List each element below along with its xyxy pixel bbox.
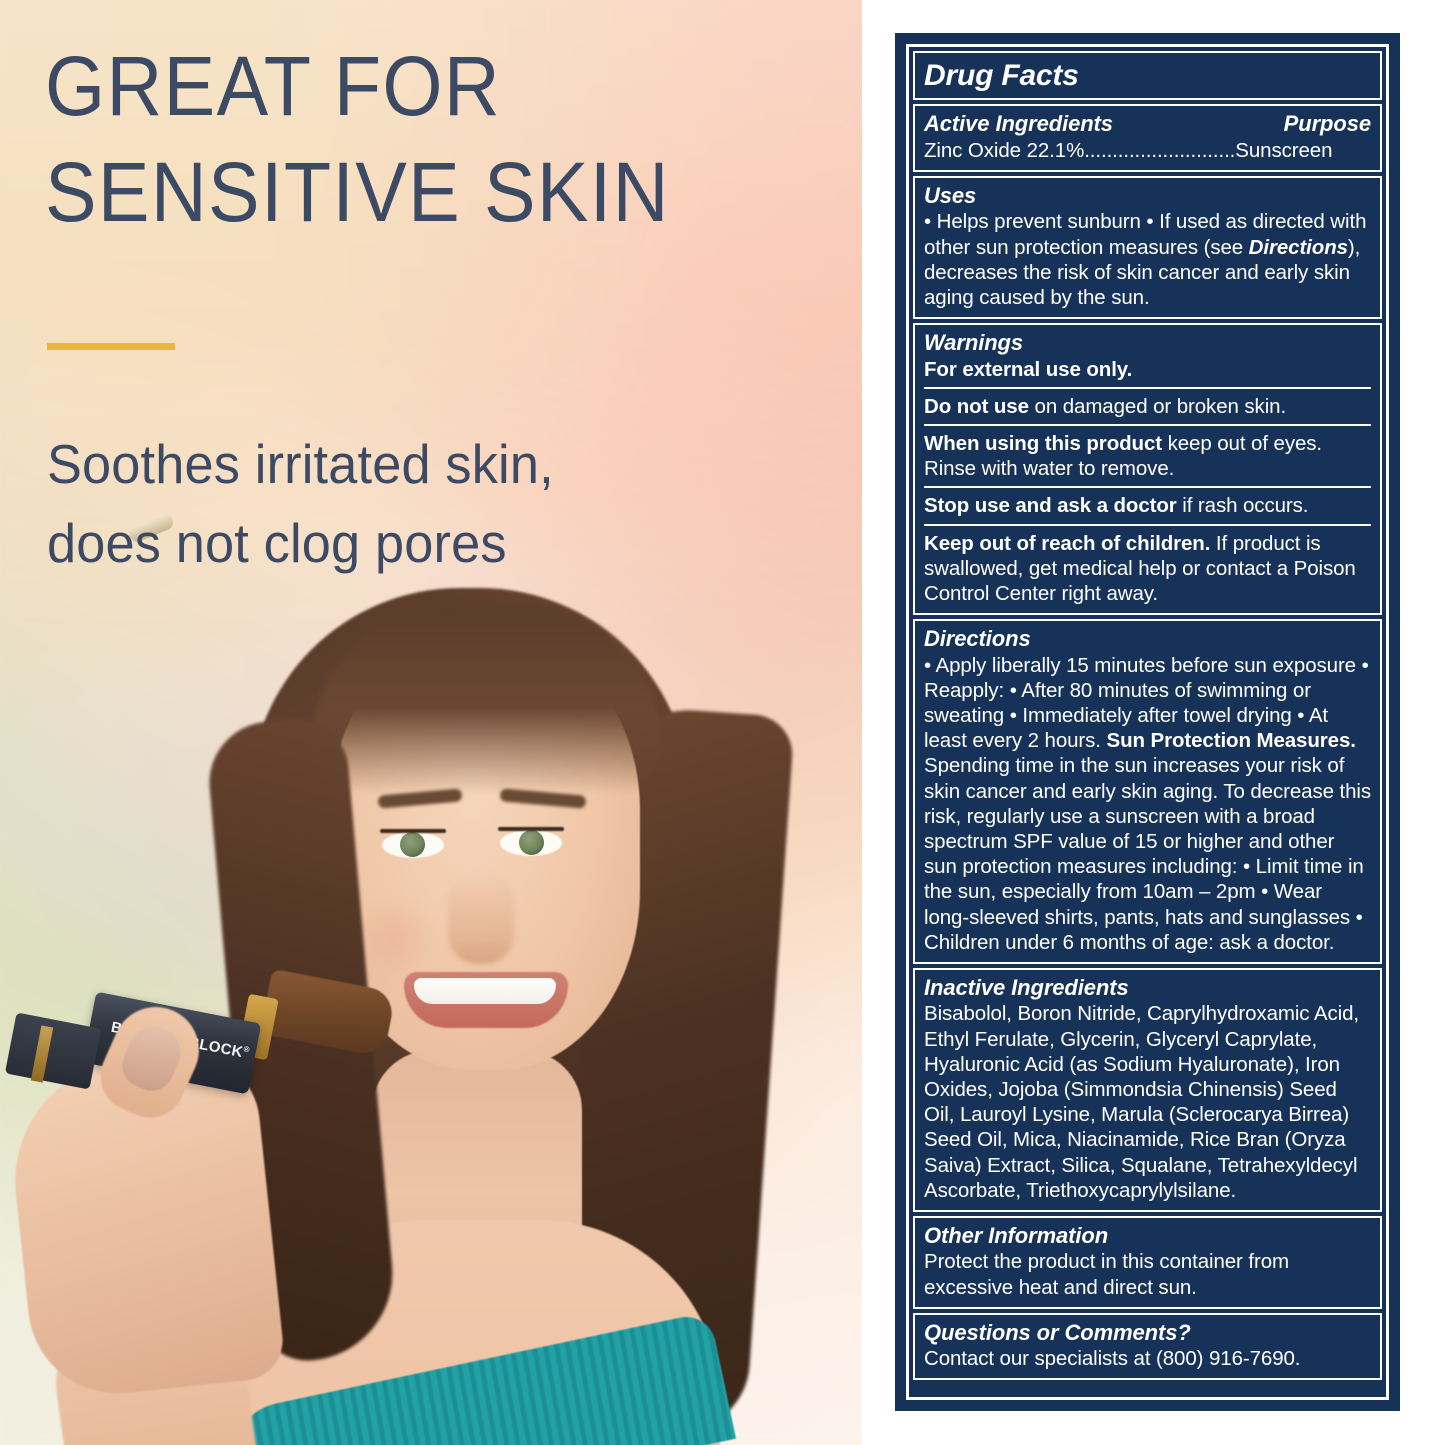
iris-left <box>400 832 425 857</box>
warning-item-3: When using this product keep out of eyes… <box>924 431 1371 481</box>
warning-divider-4 <box>924 524 1371 526</box>
directions-body: • Apply liberally 15 minutes before sun … <box>924 653 1371 955</box>
warnings-heading: Warnings <box>924 330 1371 356</box>
headline-line-1: GREAT FOR <box>45 34 772 140</box>
drug-facts-title: Drug Facts <box>924 58 1371 93</box>
teeth <box>414 978 556 1004</box>
uses-heading: Uses <box>924 183 1371 209</box>
other-information-body: Protect the product in this container fr… <box>924 1249 1371 1299</box>
inactive-ingredients-block: Inactive Ingredients Bisabolol, Boron Ni… <box>913 968 1382 1212</box>
warning-2-rest: on damaged or broken skin. <box>1029 395 1286 418</box>
page-subtitle: Soothes irritated skin, does not clog po… <box>47 425 769 583</box>
questions-block: Questions or Comments? Contact our speci… <box>913 1313 1382 1381</box>
drug-facts-label: Drug Facts Active Ingredients Purpose Zi… <box>895 33 1400 1411</box>
warning-item-2: Do not use on damaged or broken skin. <box>924 394 1371 419</box>
model-photo-subject: BRUSHONBLOCK® <box>0 520 862 1445</box>
subhead-line-2: does not clog pores <box>47 504 769 583</box>
directions-block: Directions • Apply liberally 15 minutes … <box>913 619 1382 964</box>
warnings-block: Warnings For external use only. Do not u… <box>913 323 1382 615</box>
purpose-heading: Purpose <box>1284 111 1371 137</box>
warning-item-5: Keep out of reach of children. If produc… <box>924 531 1371 607</box>
gold-divider-rule <box>47 343 175 350</box>
eyelash-left <box>380 829 446 833</box>
product-lifestyle-photo: BRUSHONBLOCK® GREAT FOR SENSITIVE SKIN S… <box>0 0 862 1445</box>
warning-2-bold: Do not use <box>924 395 1029 418</box>
questions-body: Contact our specialists at (800) 916-769… <box>924 1346 1371 1371</box>
other-information-heading: Other Information <box>924 1223 1371 1249</box>
uses-body-emphasis: Directions <box>1249 236 1348 259</box>
warning-4-bold: Stop use and ask a doctor <box>924 494 1177 517</box>
directions-bold: Sun Protection Measures. <box>1107 729 1356 752</box>
warning-3-bold: When using this product <box>924 432 1162 455</box>
drug-facts-inner-frame: Drug Facts Active Ingredients Purpose Zi… <box>906 44 1389 1400</box>
promo-image-root: BRUSHONBLOCK® GREAT FOR SENSITIVE SKIN S… <box>0 0 1445 1445</box>
directions-part2: Spending time in the sun increases your … <box>924 754 1371 953</box>
stick-cap <box>5 1012 101 1089</box>
directions-heading: Directions <box>924 626 1371 652</box>
active-ingredients-header-row: Active Ingredients Purpose <box>924 111 1371 137</box>
subhead-line-1: Soothes irritated skin, <box>47 425 769 504</box>
warning-divider-3 <box>924 486 1371 488</box>
warning-divider-2 <box>924 424 1371 426</box>
inactive-ingredients-heading: Inactive Ingredients <box>924 975 1371 1001</box>
nose <box>448 872 514 964</box>
warning-item-4: Stop use and ask a doctor if rash occurs… <box>924 493 1371 518</box>
uses-body: • Helps prevent sunburn • If used as dir… <box>924 209 1371 310</box>
uses-block: Uses • Helps prevent sunburn • If used a… <box>913 176 1382 319</box>
active-ingredient-line: Zinc Oxide 22.1%........................… <box>924 138 1371 163</box>
warning-5-bold: Keep out of reach of children. <box>924 532 1210 555</box>
active-ingredients-block: Active Ingredients Purpose Zinc Oxide 22… <box>913 104 1382 172</box>
warning-item-1: For external use only. <box>924 357 1371 382</box>
warning-divider-1 <box>924 387 1371 389</box>
questions-heading: Questions or Comments? <box>924 1320 1371 1346</box>
other-information-block: Other Information Protect the product in… <box>913 1216 1382 1309</box>
drug-facts-title-block: Drug Facts <box>913 51 1382 100</box>
iris-right <box>519 830 544 855</box>
active-ingredients-heading: Active Ingredients <box>924 111 1113 137</box>
page-title: GREAT FOR SENSITIVE SKIN <box>45 34 772 246</box>
warning-1-bold: For external use only. <box>924 358 1132 381</box>
warning-4-rest: if rash occurs. <box>1177 494 1309 517</box>
headline-line-2: SENSITIVE SKIN <box>45 140 772 246</box>
inactive-ingredients-body: Bisabolol, Boron Nitride, Caprylhydroxam… <box>924 1001 1371 1203</box>
eyelash-right <box>498 827 564 831</box>
